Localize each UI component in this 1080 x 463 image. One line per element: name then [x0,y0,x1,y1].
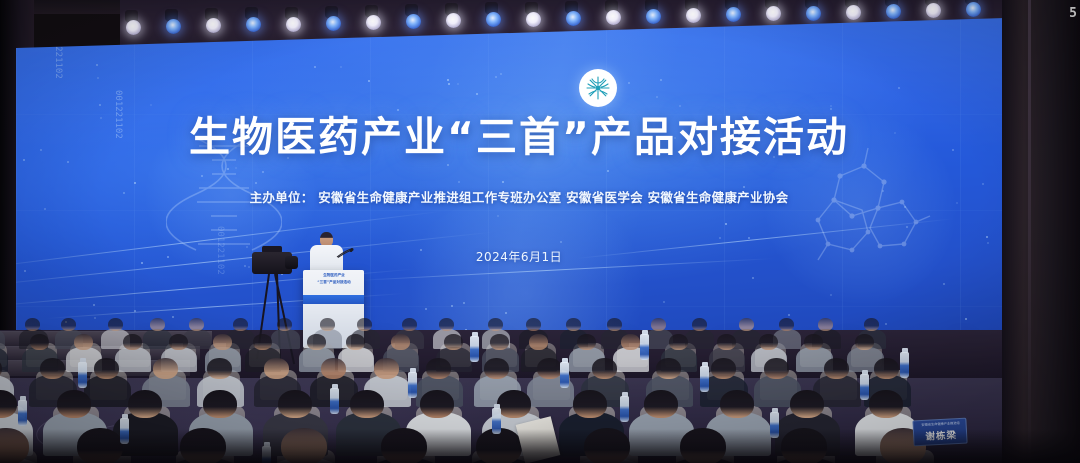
audience-head [869,390,903,418]
audience-head [40,358,65,379]
audience-head [656,358,681,379]
screen-glow-dot [476,93,478,95]
stage-light [206,18,221,33]
audience-head [621,334,640,350]
screen-glow-dot [660,79,662,81]
audience-head [711,358,736,379]
right-wall [1002,0,1080,463]
audience-head [537,358,562,379]
audience-head [346,334,365,350]
stage-light [646,9,661,24]
audience-head [30,334,49,350]
audience-head [278,390,312,418]
water-bottle [470,336,479,362]
audience-head [779,318,794,331]
audience-head [764,358,789,379]
screen-glow-dot [340,66,342,68]
screen-glow-dot [255,182,257,184]
audience-head [350,390,384,418]
audience-shoulders [271,329,300,349]
screen-glow-dot [830,105,832,107]
audience-head [94,358,119,379]
screen-glow-dot [656,96,658,98]
screen-glow-dot [227,168,229,170]
audience-head [439,318,454,331]
screen-glow-dot [201,175,203,177]
screen-glow-dot [904,206,906,208]
audience-head [391,334,410,350]
stage-light [486,12,501,27]
audience-head [669,334,688,350]
audience-head [402,318,417,331]
stage-light [686,8,701,23]
stage-light [966,2,981,17]
stage-light [806,6,821,21]
stage-light [366,15,381,30]
screen-glow-dot [44,208,46,210]
screen-glow-dot [397,109,399,111]
audience-head [490,334,509,350]
stage-light [286,17,301,32]
screen-glow-dot [67,161,69,163]
audience-head [720,390,754,418]
screen-glow-dot [502,181,504,183]
conference-photo: 001221102 001221102 001221102 生物 [0,0,1080,463]
screen-glow-dot [97,77,99,79]
audience-head [357,318,372,331]
audience-head [264,358,289,379]
led-backdrop-screen: 001221102 001221102 001221102 生物 [16,18,1006,348]
screen-glow-dot [99,104,101,106]
audience-head [692,318,707,331]
audience-head [150,318,165,331]
water-bottle [330,388,339,414]
stage-light [166,19,181,34]
water-bottle [620,396,629,422]
audience-head [644,390,678,418]
audience-head [739,318,754,331]
screen-glow-dot [560,241,562,243]
event-organizers: 主办单位： 安徽省生命健康产业推进组工作专班办公室 安徽省医学会 安徽省生命健康… [16,189,1006,206]
water-bottle [900,352,909,378]
screen-glow-dot [743,186,745,188]
screen-glow-dot [134,182,136,184]
audience-head [824,358,849,379]
audience-head [577,334,596,350]
screen-glow-dot [368,80,370,82]
screen-glow-dot [497,215,499,217]
audience-head [484,358,509,379]
audience-head [74,334,93,350]
audience-head [123,334,142,350]
podium-title-line2: “三首”产品对接活动 [311,280,357,285]
screen-glow-dot [244,265,246,267]
stage-light [246,17,261,32]
screen-glow-dot [906,226,908,228]
neuron-radial-icon [583,73,613,103]
audience-head [321,358,346,379]
screen-glow-dot [607,170,609,172]
screen-glow-dot [986,236,988,238]
audience-head [153,358,178,379]
screen-glow-dot [500,73,502,75]
screen-glow-dot [628,82,630,84]
audience-head [573,390,607,418]
podium-title-line1: 生物医药产业 [311,273,357,278]
event-title: 生物医药产业“三首”产品对接活动 [16,113,1006,161]
audience-head [651,318,666,331]
audience-head [566,318,581,331]
audience-head [488,318,503,331]
audience-shoulders [685,329,714,349]
screen-glow-dot [96,64,98,66]
audience-head [169,334,188,350]
screen-glow-dot [719,237,721,239]
water-bottle [860,374,869,400]
audience-head [307,334,326,350]
stage-light [726,7,741,22]
audience-head [874,358,899,379]
audience-shoulders [143,329,172,349]
screen-glow-dot [447,164,449,166]
stage-light [406,14,421,29]
corner-number: 5 [1069,6,1077,21]
stage-light [446,13,461,28]
audience-head [374,358,399,379]
stage-light [926,3,941,18]
audience-head [108,318,123,331]
audience-head [189,318,204,331]
screen-glow-dot [752,277,754,279]
stage-light [126,20,141,35]
screen-glow-dot [943,283,945,285]
audience-head [526,318,541,331]
water-bottle [700,366,709,392]
stage-light [526,12,541,27]
screen-glow-dot [24,270,26,272]
audience-head [759,334,778,350]
audience-head [864,318,879,331]
screen-glow-dot [447,79,449,81]
audience-shoulders [732,329,761,349]
screen-glow-dot [235,167,237,169]
stage-light [886,4,901,19]
audience-head [61,318,76,331]
event-logo-icon [579,69,617,107]
water-bottle [560,362,569,388]
screen-glow-dot [495,76,497,78]
water-bottle [640,334,649,360]
screen-glow-dot [748,237,750,239]
screen-glow-dot [982,183,984,185]
event-date: 2024年6月1日 [16,248,1006,265]
audience-head [207,358,232,379]
screen-glow-dot [448,83,450,85]
screen-glow-dot [248,266,250,268]
screen-glow-dot [679,105,681,107]
audience-head [420,390,454,418]
audience-shoulders [84,375,132,407]
stage-light [606,10,621,25]
audience-head [790,390,824,418]
audience-head [277,318,292,331]
stage-light [766,6,781,21]
water-bottle [78,362,87,388]
screen-glow-dot [457,83,459,85]
screen-glow-dot [987,242,989,244]
stage-light [846,5,861,20]
audience-head [592,358,617,379]
audience-head [497,390,531,418]
screen-glow-dot [830,294,832,296]
bottom-shadow [0,429,1080,463]
audience-head [320,318,335,331]
audience-shoulders [115,347,151,372]
audience-head [855,334,874,350]
screen-glow-dot [150,104,152,106]
screen-glow-dot [458,181,460,183]
audience-shoulders [0,329,5,349]
audience-head [426,358,451,379]
water-bottle [408,372,417,398]
audience-head [253,334,272,350]
audience-head [529,334,548,350]
microphone-icon [336,248,354,258]
audience-head [444,334,463,350]
screen-glow-dot [314,66,316,68]
audience-head [213,334,232,350]
audience-head [57,390,91,418]
screen-glow-dot [898,87,900,89]
stage-light [326,16,341,31]
water-bottle [18,400,27,426]
camera-lens-icon [285,256,298,269]
audience-head [607,318,622,331]
audience-head [717,334,736,350]
screen-glow-dot [262,171,264,173]
screen-glow-dot [725,223,727,225]
audience-head [233,318,248,331]
audience-head [128,390,162,418]
audience-head [203,390,237,418]
screen-glow-dot [830,108,832,110]
stage-light [566,11,581,26]
